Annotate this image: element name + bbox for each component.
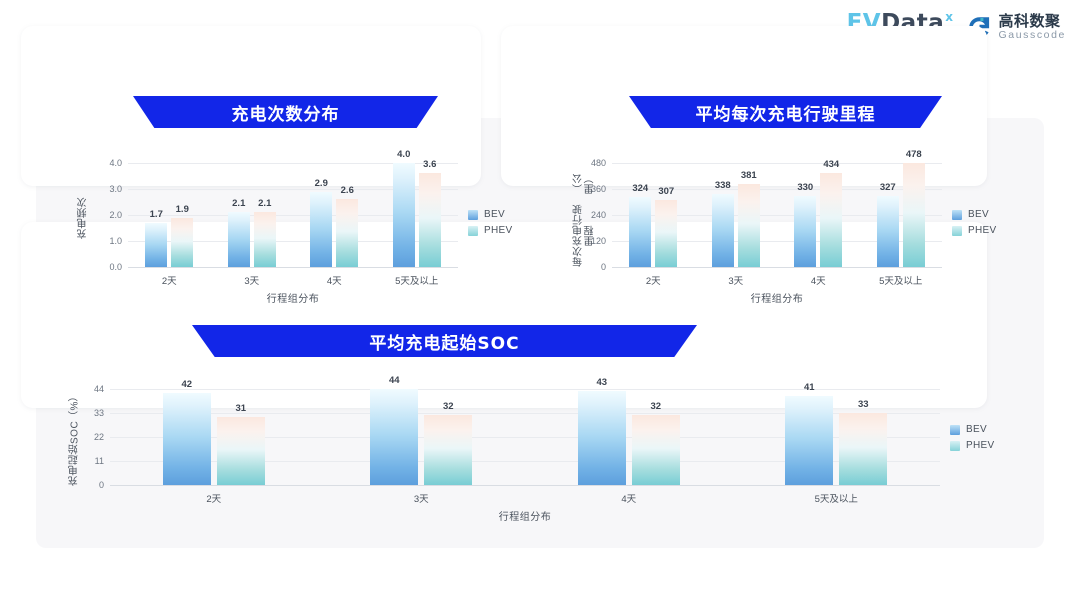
x-axis-tick: 2天 <box>646 273 661 287</box>
chart-title-charging-frequency: 充电次数分布 <box>133 96 438 128</box>
x-axis-tick: 4天 <box>621 491 636 505</box>
y-axis-tick: 22 <box>94 432 104 442</box>
bar-phev-2: 2.6 <box>336 199 358 267</box>
gausscode-wordmark: 高科数聚 Gausscode <box>998 14 1066 41</box>
bar-bev-0: 42 <box>163 393 211 485</box>
y-axis-tick: 0.0 <box>109 262 122 272</box>
bar-bev-2: 330 <box>794 196 816 268</box>
x-axis-tick: 4天 <box>327 273 342 287</box>
plot-area-soc: 01122334442312天44323天43324天41335天及以上 <box>110 389 940 485</box>
legend-mileage: BEVPHEV <box>952 209 996 236</box>
bar-value-label: 2.1 <box>232 198 245 209</box>
bar-value-label: 1.7 <box>150 209 163 220</box>
bar-phev-1: 381 <box>738 184 760 267</box>
gridline <box>110 485 940 486</box>
bar-value-label: 324 <box>632 183 648 194</box>
gridline <box>110 389 940 390</box>
chart-title-mileage: 平均每次充电行驶里程 <box>629 96 942 128</box>
x-axis-tick: 3天 <box>414 491 429 505</box>
bar-phev-2: 32 <box>632 415 680 485</box>
bar-bev-2: 43 <box>578 391 626 485</box>
y-axis-tick: 3.0 <box>109 184 122 194</box>
bar-phev-3: 3.6 <box>419 173 441 267</box>
legend-swatch-phev-icon <box>468 226 478 236</box>
legend-soc: BEVPHEV <box>950 424 994 451</box>
bar-value-label: 32 <box>650 401 661 412</box>
y-axis-tick: 1.0 <box>109 236 122 246</box>
x-axis-label-soc: 行程组分布 <box>110 508 940 523</box>
legend-item-bev[interactable]: BEV <box>952 209 996 220</box>
bar-bev-1: 44 <box>370 389 418 485</box>
bar-value-label: 327 <box>880 182 896 193</box>
bar-phev-0: 307 <box>655 200 677 267</box>
bar-bev-0: 324 <box>629 197 651 267</box>
bar-value-label: 42 <box>181 379 192 390</box>
bar-value-label: 32 <box>443 401 454 412</box>
bar-value-label: 434 <box>823 159 839 170</box>
x-axis-tick: 5天及以上 <box>879 273 922 287</box>
legend-label: PHEV <box>966 440 994 451</box>
y-axis-label-mileage: 每次充电行驶里程（公里） <box>572 166 598 270</box>
bar-value-label: 4.0 <box>397 149 410 160</box>
y-axis-label-line1: 充电起始SOC <box>69 421 81 486</box>
x-axis-label-mileage: 行程组分布 <box>612 290 942 305</box>
x-axis-label-charging-frequency: 行程组分布 <box>128 290 458 305</box>
bar-phev-1: 32 <box>424 415 472 485</box>
gausscode-name-cn: 高科数聚 <box>998 14 1066 30</box>
gridline <box>612 267 942 268</box>
bar-value-label: 41 <box>804 382 815 393</box>
x-axis-tick: 3天 <box>244 273 259 287</box>
y-axis-label-line2: （公里） <box>574 166 597 201</box>
bar-bev-3: 327 <box>877 196 899 267</box>
x-axis-tick: 2天 <box>206 491 221 505</box>
bar-phev-2: 434 <box>820 173 842 267</box>
y-axis-label-charging-frequency: 充电频次 <box>78 178 90 258</box>
x-axis-tick: 4天 <box>811 273 826 287</box>
bar-bev-0: 1.7 <box>145 223 167 267</box>
bar-bev-1: 2.1 <box>228 212 250 267</box>
bar-bev-3: 41 <box>785 396 833 485</box>
y-axis-tick: 44 <box>94 384 104 394</box>
bar-value-label: 33 <box>858 399 869 410</box>
legend-item-bev[interactable]: BEV <box>950 424 994 435</box>
x-axis-tick: 5天及以上 <box>815 491 858 505</box>
y-axis-tick: 0 <box>601 262 606 272</box>
x-axis-tick: 2天 <box>162 273 177 287</box>
bar-phev-0: 1.9 <box>171 218 193 267</box>
bar-value-label: 2.9 <box>315 178 328 189</box>
y-axis-tick: 11 <box>95 456 104 466</box>
legend-label: PHEV <box>968 225 996 236</box>
bar-value-label: 338 <box>715 180 731 191</box>
bar-value-label: 31 <box>235 403 246 414</box>
chart-title-soc: 平均充电起始SOC <box>192 325 697 357</box>
bar-bev-1: 338 <box>712 194 734 267</box>
bar-value-label: 2.6 <box>341 185 354 196</box>
bar-value-label: 307 <box>658 186 674 197</box>
bar-phev-1: 2.1 <box>254 212 276 267</box>
legend-swatch-bev-icon <box>950 425 960 435</box>
bar-phev-3: 478 <box>903 163 925 267</box>
gausscode-name-en: Gausscode <box>998 30 1066 41</box>
x-axis-tick: 5天及以上 <box>395 273 438 287</box>
legend-label: BEV <box>484 209 505 220</box>
legend-label: PHEV <box>484 225 512 236</box>
y-axis-tick: 4.0 <box>109 158 122 168</box>
bar-value-label: 43 <box>596 377 607 388</box>
bar-value-label: 3.6 <box>423 159 436 170</box>
y-axis-tick: 33 <box>94 408 104 418</box>
legend-item-phev[interactable]: PHEV <box>950 440 994 451</box>
y-axis-label-line2: （%） <box>69 390 81 420</box>
x-axis-tick: 3天 <box>728 273 743 287</box>
y-axis-label-line1: 每次充电行驶里程 <box>574 201 597 270</box>
bar-bev-2: 2.9 <box>310 192 332 267</box>
bar-value-label: 1.9 <box>176 204 189 215</box>
evdata-logo-x-icon: x <box>945 11 953 23</box>
legend-swatch-bev-icon <box>952 210 962 220</box>
bar-value-label: 2.1 <box>258 198 271 209</box>
legend-label: BEV <box>966 424 987 435</box>
y-axis-label-soc: 充电起始SOC（%） <box>62 390 88 486</box>
bar-value-label: 44 <box>389 375 400 386</box>
legend-swatch-phev-icon <box>952 226 962 236</box>
legend-label: BEV <box>968 209 989 220</box>
plot-area-mileage: 01202403604803243072天3383813天3304344天327… <box>612 163 942 267</box>
bar-phev-0: 31 <box>217 417 265 485</box>
legend-swatch-bev-icon <box>468 210 478 220</box>
y-axis-tick: 0 <box>99 480 104 490</box>
bar-value-label: 478 <box>906 149 922 160</box>
legend-charging-frequency: BEVPHEV <box>468 209 512 236</box>
y-axis-tick: 2.0 <box>109 210 122 220</box>
gridline <box>612 163 942 164</box>
plot-area-charging-frequency: 0.01.02.03.04.01.71.92天2.12.13天2.92.64天4… <box>128 163 458 267</box>
bar-value-label: 381 <box>741 170 757 181</box>
bar-phev-3: 33 <box>839 413 887 485</box>
bar-value-label: 330 <box>797 182 813 193</box>
gridline <box>128 267 458 268</box>
legend-item-phev[interactable]: PHEV <box>468 225 512 236</box>
legend-item-phev[interactable]: PHEV <box>952 225 996 236</box>
legend-swatch-phev-icon <box>950 441 960 451</box>
legend-item-bev[interactable]: BEV <box>468 209 512 220</box>
bar-bev-3: 4.0 <box>393 163 415 267</box>
